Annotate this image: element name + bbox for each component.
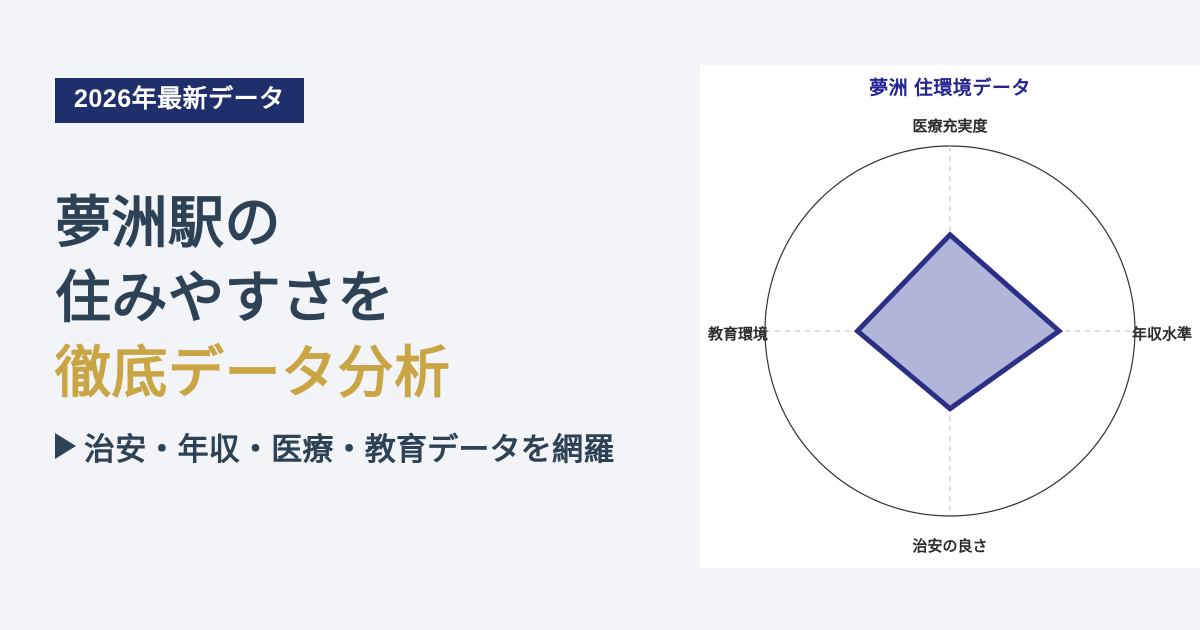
radar-data-polygon	[858, 235, 1060, 409]
radar-axis-label-top: 医療充実度	[700, 115, 1200, 136]
headline-line-1: 夢洲駅の	[55, 185, 700, 260]
radar-axis-label-bottom: 治安の良さ	[700, 535, 1200, 556]
radar-chart	[700, 65, 1200, 568]
poster-canvas: 2026年最新データ 夢洲駅の 住みやすさを 徹底データ分析 治安・年収・医療・…	[0, 0, 1200, 630]
status-badge: 2026年最新データ	[55, 78, 304, 123]
headline-line-3: 徹底データ分析	[55, 335, 700, 410]
left-text-panel: 2026年最新データ 夢洲駅の 住みやすさを 徹底データ分析 治安・年収・医療・…	[0, 0, 700, 630]
triangle-right-icon	[55, 433, 76, 459]
page-title: 夢洲駅の 住みやすさを 徹底データ分析	[55, 185, 700, 410]
subtitle: 治安・年収・医療・教育データを網羅	[55, 424, 700, 469]
subtitle-label: 治安・年収・医療・教育データを網羅	[84, 424, 614, 469]
radar-axis-label-right: 年収水準	[1132, 323, 1192, 344]
headline-line-2: 住みやすさを	[55, 260, 700, 335]
radar-axis-label-left: 教育環境	[708, 323, 768, 344]
chart-card: 夢洲 住環境データ 医療充実度 年収水準 治安の良さ 教育環境	[700, 65, 1200, 568]
